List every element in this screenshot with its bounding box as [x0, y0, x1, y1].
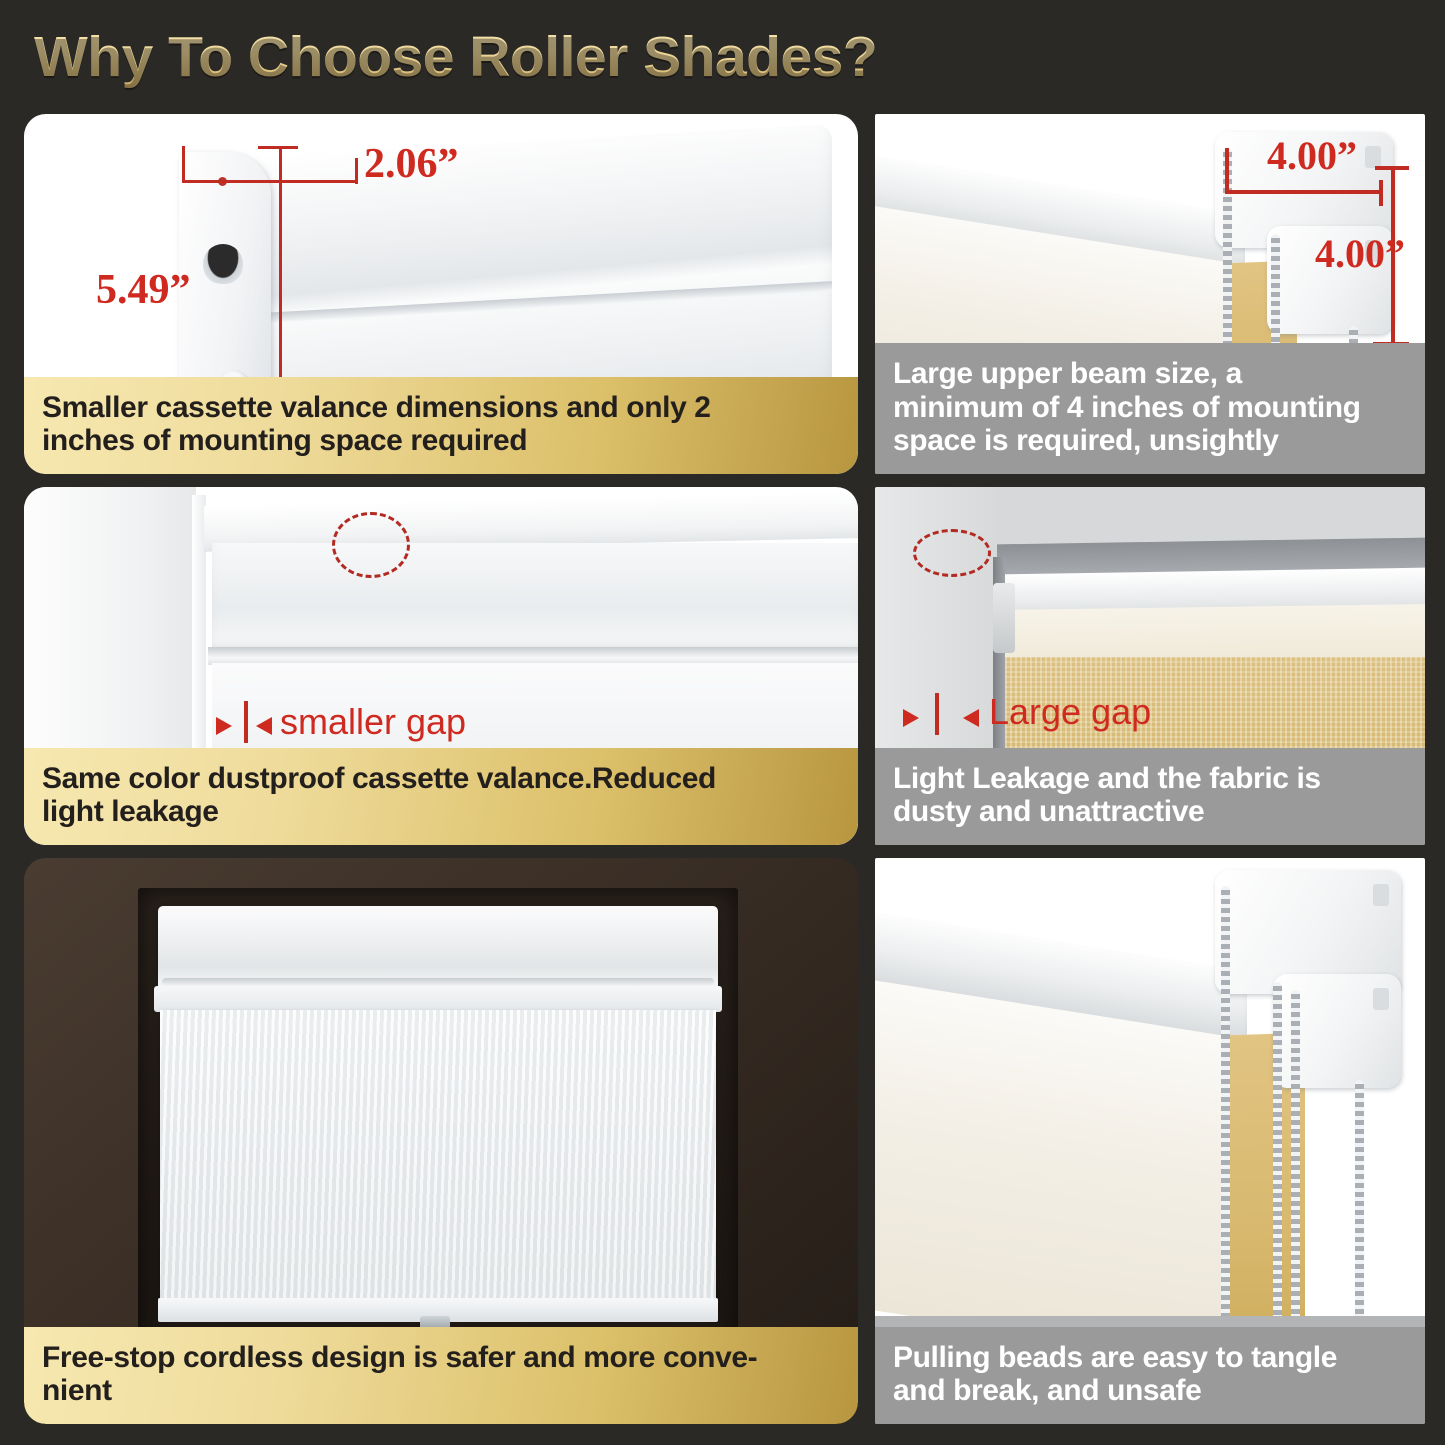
beam-width-dim-line [1225, 190, 1383, 194]
height-dim-tick-top [258, 146, 298, 149]
beam-width-label: 4.00” [1267, 132, 1357, 179]
gap-arrow-right [963, 709, 979, 727]
caption-bottom-right: Pulling beads are easy to tangle and bre… [875, 1327, 1425, 1424]
caption-line: Same color dustproof cassette valance.Re… [42, 762, 840, 796]
caption-line: Light Leakage and the fabric is [893, 762, 1407, 796]
roller-shade-fabric [160, 1010, 716, 1310]
panel-bottom-right: Pulling beads are easy to tangle and bre… [875, 858, 1425, 1424]
panel-top-right: 4.00” 4.00” Large upper beam size, a min… [875, 114, 1425, 474]
caption-line: Large upper beam size, a [893, 357, 1407, 391]
width-dim-tick-right [355, 158, 358, 184]
caption-line: Free-stop cordless design is safer and m… [42, 1341, 840, 1375]
beam-height-label: 4.00” [1315, 230, 1405, 277]
caption-bottom-left: Free-stop cordless design is safer and m… [24, 1327, 858, 1424]
width-dim-tick-left [182, 146, 185, 182]
bead-chain [1291, 990, 1300, 1336]
caption-middle-left: Same color dustproof cassette valance.Re… [24, 748, 858, 845]
caption-line: space is required, unsightly [893, 424, 1407, 458]
large-gap-label: Large gap [989, 691, 1151, 733]
caption-line: dusty and unattractive [893, 795, 1407, 829]
valance-slot [203, 244, 243, 284]
caption-line: inches of mounting space required [42, 424, 840, 458]
roller-fabric-front [875, 978, 1237, 1368]
height-dim-label: 5.49” [96, 266, 191, 314]
caption-middle-right: Light Leakage and the fabric is dusty an… [875, 748, 1425, 845]
bead-chain [1273, 982, 1282, 1336]
panel-middle-left: smaller gap Same color dustproof cassett… [24, 487, 858, 845]
bead-chain [1355, 1080, 1364, 1336]
shade-upper-section [212, 543, 858, 651]
panel-middle-right: Large gap Light Leakage and the fabric i… [875, 487, 1425, 845]
width-dim-label: 2.06” [364, 140, 459, 188]
valance-lip [154, 986, 722, 1012]
panel-bottom-left: Free-stop cordless design is safer and m… [24, 858, 858, 1424]
gap-arrow-right [256, 717, 272, 735]
panel-top-left: 2.06” 5.49” Smaller cassette valance dim… [24, 114, 858, 474]
smaller-gap-label: smaller gap [280, 701, 466, 743]
caption-line: light leakage [42, 795, 840, 829]
highlight-circle-icon [332, 512, 410, 578]
bead-chain [1221, 886, 1230, 1336]
highlight-circle-icon [913, 529, 991, 577]
gap-marker [935, 693, 939, 735]
caption-top-right: Large upper beam size, a minimum of 4 in… [875, 343, 1425, 474]
beam-width-tick-right [1379, 180, 1383, 206]
caption-top-left: Smaller cassette valance dimensions and … [24, 377, 858, 474]
gap-arrow-left [903, 709, 919, 727]
page-title: Why To Choose Roller Shades? [34, 22, 1134, 92]
caption-line: and break, and unsafe [893, 1374, 1407, 1408]
gap-arrow-left [216, 717, 232, 735]
side-bracket [993, 583, 1015, 653]
cassette-valance [158, 906, 718, 992]
beam-width-tick-left [1225, 148, 1229, 194]
width-dim-line [182, 180, 358, 183]
caption-line: Pulling beads are easy to tangle [893, 1341, 1407, 1375]
gap-marker [244, 701, 248, 743]
caption-line: nient [42, 1374, 840, 1408]
caption-line: Smaller cassette valance dimensions and … [42, 391, 840, 425]
beam-height-tick-top [1375, 166, 1409, 170]
caption-line: minimum of 4 inches of mounting [893, 391, 1407, 425]
